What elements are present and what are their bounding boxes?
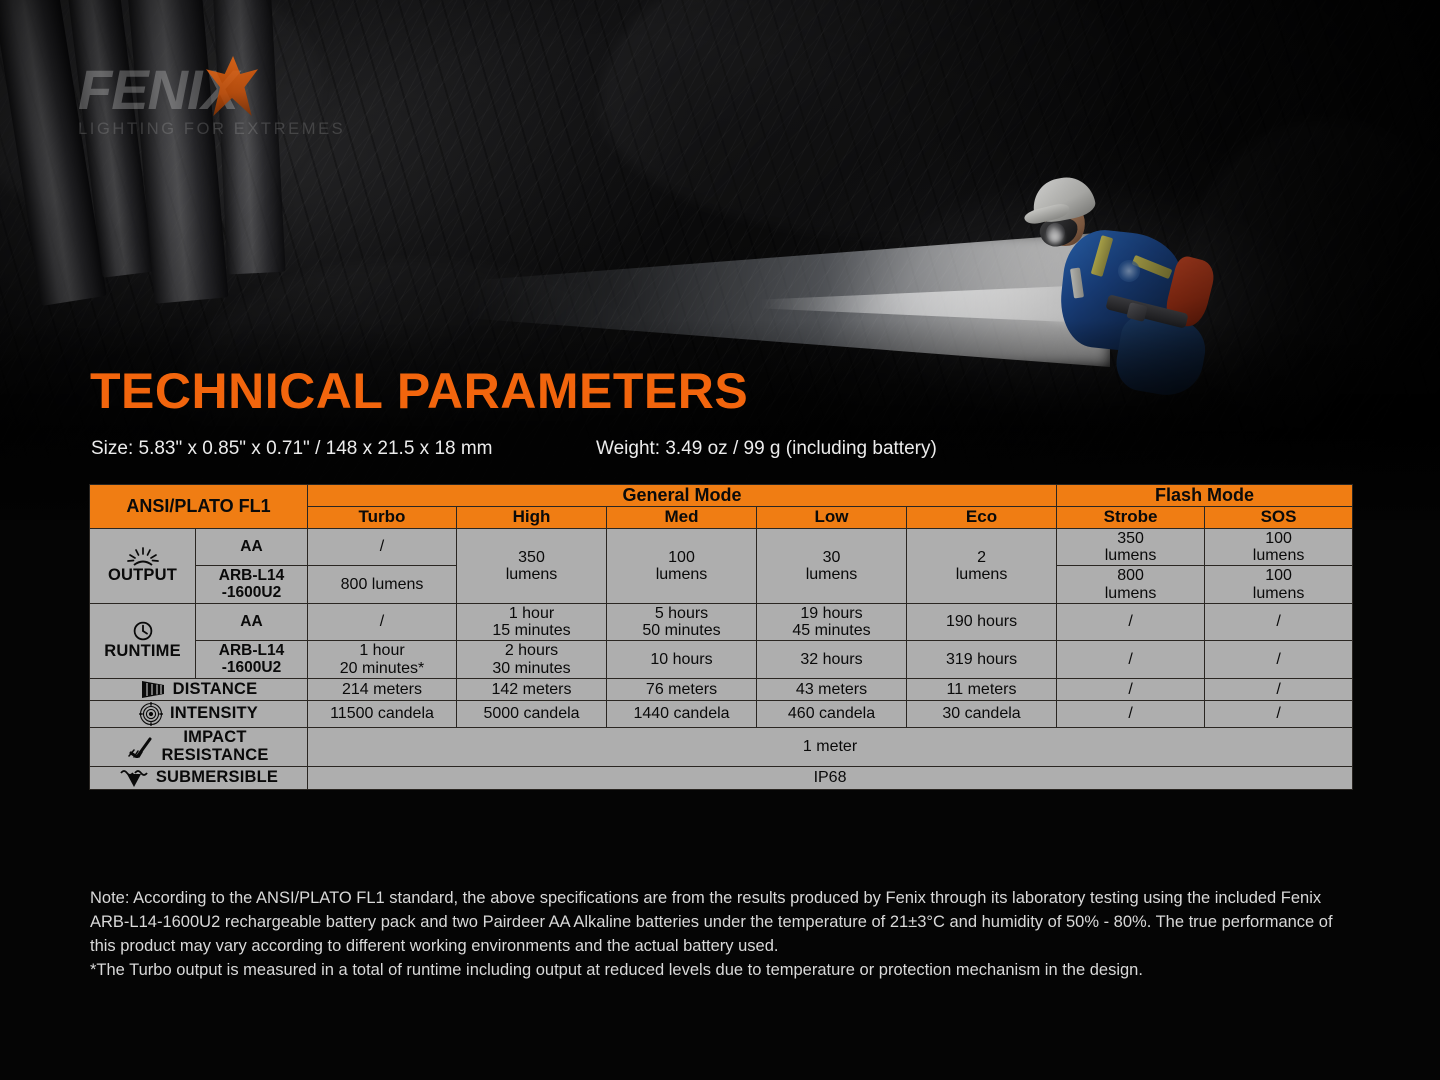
cell-intensity-turbo: 11500 candela xyxy=(308,700,457,727)
row-label-intensity: INTENSITY xyxy=(90,700,308,727)
column-header-eco: Eco xyxy=(907,507,1057,528)
table-row-impact-resistance: IMPACTRESISTANCE 1 meter xyxy=(90,727,1353,766)
cell-runtime-arb-med: 10 hours xyxy=(607,641,757,679)
cell-distance-high: 142 meters xyxy=(457,678,607,700)
row-label-impact-resistance-text: IMPACTRESISTANCE xyxy=(161,729,268,765)
battery-label-arb-line2: -1600U2 xyxy=(222,584,281,601)
water-drop-icon xyxy=(119,768,149,788)
impact-resistance-icon xyxy=(128,736,154,758)
cell-output-arb-sos: 100lumens xyxy=(1205,566,1353,604)
group-header-general-mode: General Mode xyxy=(308,485,1057,507)
cell-output-med: 100lumens xyxy=(607,528,757,603)
impact-line1: IMPACT xyxy=(183,728,246,746)
cell-runtime-arb-turbo: 1 hour20 minutes* xyxy=(308,641,457,679)
battery-label-arb-line1: ARB-L14 xyxy=(219,642,284,659)
weight-text: Weight: 3.49 oz / 99 g (including batter… xyxy=(596,438,937,459)
specifications-table: ANSI/PLATO FL1 General Mode Flash Mode T… xyxy=(89,484,1353,790)
table-row-output-aa: OUTPUT AA / 350lumens 100lumens 30lumens… xyxy=(90,528,1353,566)
battery-label-aa: AA xyxy=(196,603,308,641)
cell-runtime-aa-eco: 190 hours xyxy=(907,603,1057,641)
row-label-output: OUTPUT xyxy=(90,528,196,603)
battery-label-arb: ARB-L14 -1600U2 xyxy=(196,566,308,604)
table-row-runtime-arb: ARB-L14 -1600U2 1 hour20 minutes* 2 hour… xyxy=(90,641,1353,679)
cell-submersible-value: IP68 xyxy=(308,766,1353,789)
cell-output-aa-strobe: 350lumens xyxy=(1057,528,1205,566)
cell-output-arb-strobe: 800lumens xyxy=(1057,566,1205,604)
technical-parameters-page: FENIX LIGHTING FOR EXTREMES TECHNICAL PA… xyxy=(0,0,1440,1080)
column-header-turbo: Turbo xyxy=(308,507,457,528)
row-label-runtime-text: RUNTIME xyxy=(104,643,181,661)
cell-distance-low: 43 meters xyxy=(757,678,907,700)
cell-distance-eco: 11 meters xyxy=(907,678,1057,700)
table-header-row-groups: ANSI/PLATO FL1 General Mode Flash Mode xyxy=(90,485,1353,507)
column-header-sos: SOS xyxy=(1205,507,1353,528)
battery-label-aa: AA xyxy=(196,528,308,566)
cell-runtime-aa-strobe: / xyxy=(1057,603,1205,641)
page-title: TECHNICAL PARAMETERS xyxy=(90,362,748,420)
fenix-logo: FENIX LIGHTING FOR EXTREMES xyxy=(78,62,378,152)
cell-runtime-arb-high: 2 hours30 minutes xyxy=(457,641,607,679)
column-header-strobe: Strobe xyxy=(1057,507,1205,528)
group-header-flash-mode: Flash Mode xyxy=(1057,485,1353,507)
column-header-med: Med xyxy=(607,507,757,528)
cell-intensity-sos: / xyxy=(1205,700,1353,727)
cell-runtime-arb-sos: / xyxy=(1205,641,1353,679)
cell-runtime-arb-strobe: / xyxy=(1057,641,1205,679)
standard-label-cell: ANSI/PLATO FL1 xyxy=(90,485,308,529)
cell-distance-sos: / xyxy=(1205,678,1353,700)
cell-runtime-aa-sos: / xyxy=(1205,603,1353,641)
cell-output-high: 350lumens xyxy=(457,528,607,603)
cell-runtime-arb-low: 32 hours xyxy=(757,641,907,679)
cell-intensity-med: 1440 candela xyxy=(607,700,757,727)
cell-intensity-eco: 30 candela xyxy=(907,700,1057,727)
row-label-distance-text: DISTANCE xyxy=(173,681,258,699)
table-row-runtime-aa: RUNTIME AA / 1 hour15 minutes 5 hours50 … xyxy=(90,603,1353,641)
impact-line2: RESISTANCE xyxy=(161,746,268,764)
sunburst-icon xyxy=(126,546,160,566)
cell-distance-strobe: / xyxy=(1057,678,1205,700)
row-label-submersible-text: SUBMERSIBLE xyxy=(156,769,278,787)
battery-label-arb-line1: ARB-L14 xyxy=(219,567,284,584)
cell-output-eco: 2lumens xyxy=(907,528,1057,603)
cell-runtime-arb-eco: 319 hours xyxy=(907,641,1057,679)
row-label-impact-resistance: IMPACTRESISTANCE xyxy=(90,727,308,766)
cell-output-arb-turbo: 800 lumens xyxy=(308,566,457,604)
cell-impact-resistance-value: 1 meter xyxy=(308,727,1353,766)
battery-label-arb-line2: -1600U2 xyxy=(222,659,281,676)
row-label-intensity-text: INTENSITY xyxy=(170,705,258,723)
column-header-low: Low xyxy=(757,507,907,528)
intensity-target-icon xyxy=(139,702,163,726)
cell-runtime-aa-low: 19 hours45 minutes xyxy=(757,603,907,641)
fenix-logo-tagline: LIGHTING FOR EXTREMES xyxy=(78,120,378,139)
row-label-runtime: RUNTIME xyxy=(90,603,196,678)
cell-runtime-aa-high: 1 hour15 minutes xyxy=(457,603,607,641)
size-text: Size: 5.83" x 0.85" x 0.71" / 148 x 21.5… xyxy=(91,438,596,460)
cell-distance-med: 76 meters xyxy=(607,678,757,700)
cell-intensity-strobe: / xyxy=(1057,700,1205,727)
clock-icon xyxy=(132,620,154,642)
beam-distance-icon xyxy=(140,680,166,699)
cell-intensity-low: 460 candela xyxy=(757,700,907,727)
footnote-block: Note: According to the ANSI/PLATO FL1 st… xyxy=(90,886,1362,982)
dimensions-row: Size: 5.83" x 0.85" x 0.71" / 148 x 21.5… xyxy=(91,438,1361,460)
cell-output-aa-sos: 100lumens xyxy=(1205,528,1353,566)
row-label-output-text: OUTPUT xyxy=(108,567,177,585)
table-row-intensity: INTENSITY 11500 candela 5000 candela 144… xyxy=(90,700,1353,727)
row-label-submersible: SUBMERSIBLE xyxy=(90,766,308,789)
cell-runtime-aa-turbo: / xyxy=(308,603,457,641)
footnote-line-2: *The Turbo output is measured in a total… xyxy=(90,958,1362,982)
cell-intensity-high: 5000 candela xyxy=(457,700,607,727)
cell-output-low: 30lumens xyxy=(757,528,907,603)
cell-runtime-aa-med: 5 hours50 minutes xyxy=(607,603,757,641)
cell-output-aa-turbo: / xyxy=(308,528,457,566)
cell-distance-turbo: 214 meters xyxy=(308,678,457,700)
row-label-distance: DISTANCE xyxy=(90,678,308,700)
footnote-line-1: Note: According to the ANSI/PLATO FL1 st… xyxy=(90,886,1362,958)
battery-label-arb: ARB-L14 -1600U2 xyxy=(196,641,308,679)
table-row-distance: DISTANCE 214 meters 142 meters 76 meters… xyxy=(90,678,1353,700)
table-row-submersible: SUBMERSIBLE IP68 xyxy=(90,766,1353,789)
column-header-high: High xyxy=(457,507,607,528)
